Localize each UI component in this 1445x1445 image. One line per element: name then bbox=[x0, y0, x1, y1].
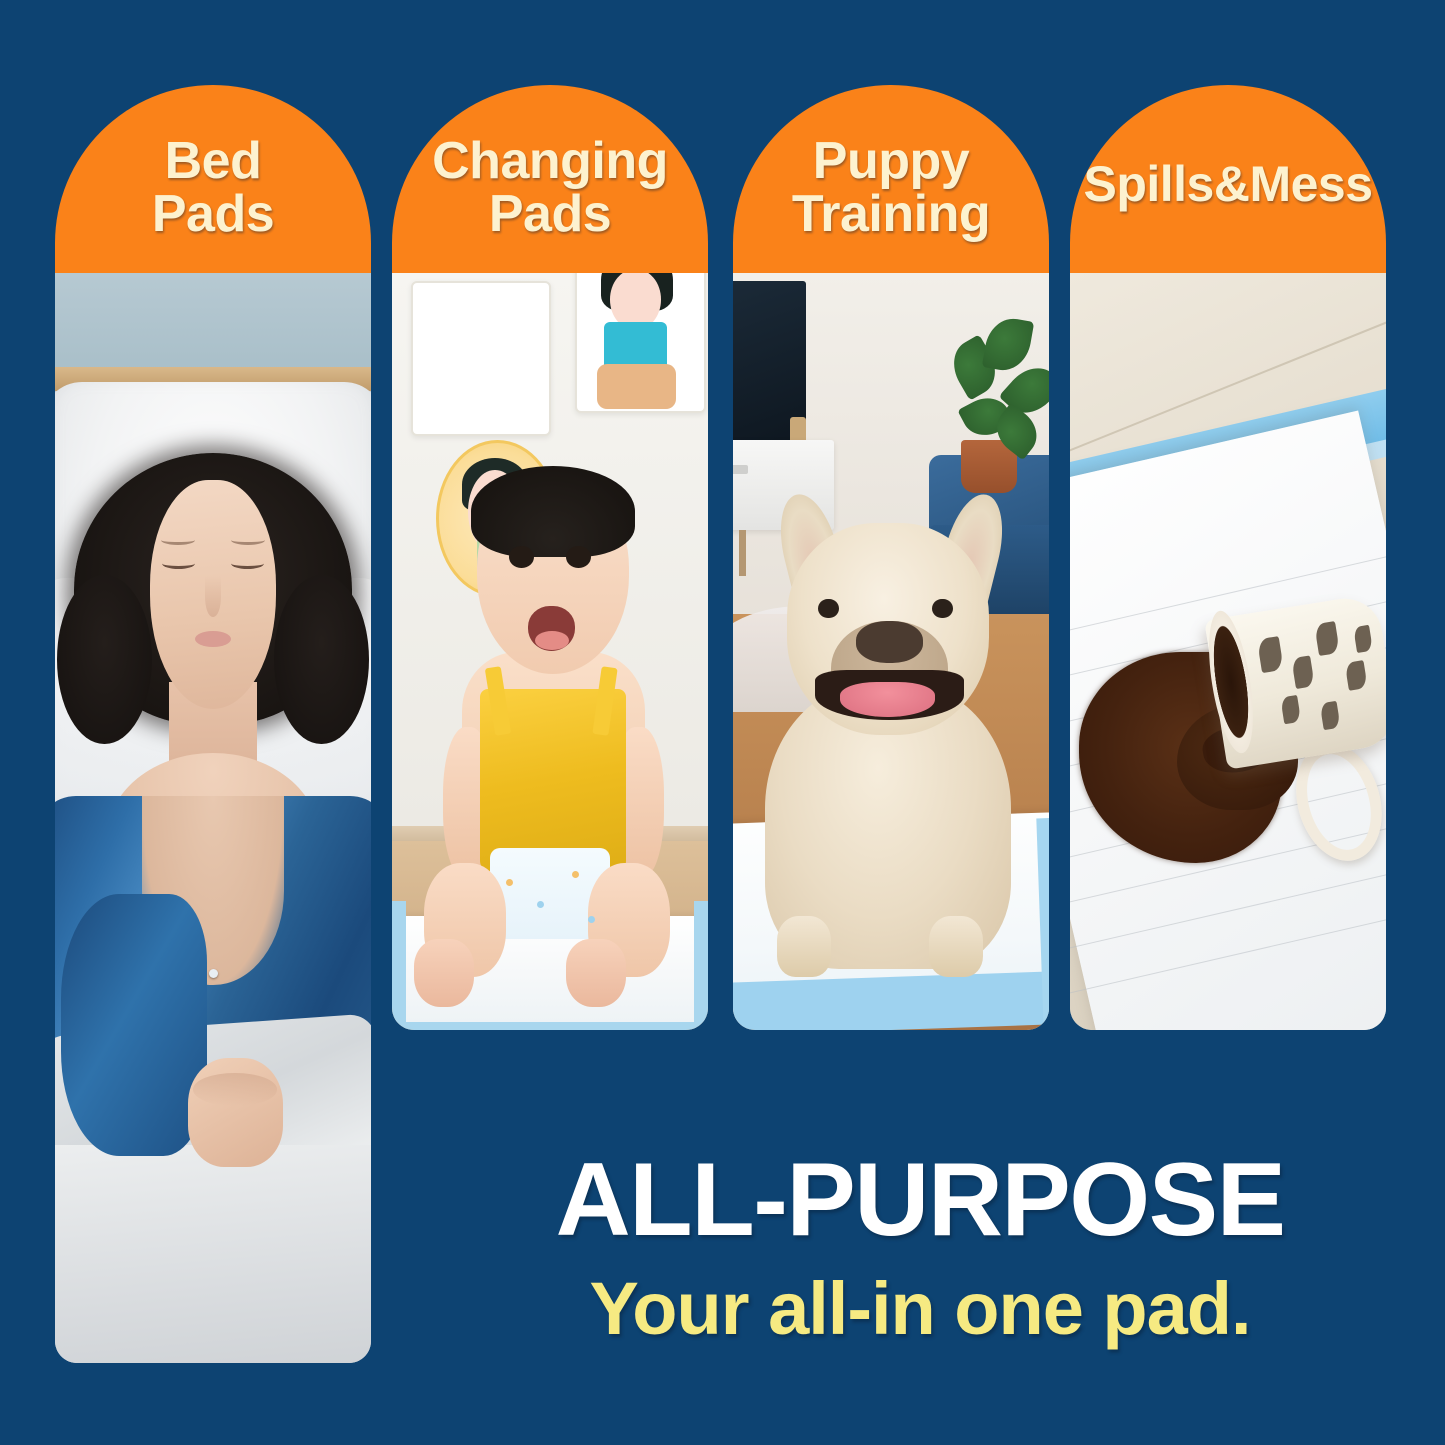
panel-photo-spills-mess bbox=[1070, 273, 1386, 1030]
panel-label-puppy-training: Puppy Training bbox=[792, 135, 990, 241]
infographic-canvas: Bed Pads bbox=[0, 0, 1445, 1445]
panel-photo-puppy-training bbox=[733, 273, 1049, 1030]
panel-photo-changing-pads bbox=[392, 273, 708, 1030]
panel-label-spills-mess: Spills&Mess bbox=[1083, 159, 1372, 210]
panel-changing-pads: Changing Pads bbox=[392, 85, 708, 1030]
panel-puppy-training: Puppy Training bbox=[733, 85, 1049, 1030]
panel-header-spills-mess: Spills&Mess bbox=[1070, 85, 1386, 273]
headline-main: ALL-PURPOSE bbox=[420, 1148, 1420, 1252]
headline-block: ALL-PURPOSE Your all-in one pad. bbox=[420, 1148, 1420, 1346]
panel-label-changing-pads: Changing Pads bbox=[432, 135, 668, 241]
headline-sub: Your all-in one pad. bbox=[420, 1272, 1420, 1346]
panel-bed-pads: Bed Pads bbox=[55, 85, 371, 1363]
panel-spills-mess: Spills&Mess bbox=[1070, 85, 1386, 1030]
panel-header-bed-pads: Bed Pads bbox=[55, 85, 371, 273]
panel-header-puppy-training: Puppy Training bbox=[733, 85, 1049, 273]
panel-header-changing-pads: Changing Pads bbox=[392, 85, 708, 273]
panel-label-bed-pads: Bed Pads bbox=[152, 135, 274, 241]
panel-photo-bed-pads bbox=[55, 273, 371, 1363]
